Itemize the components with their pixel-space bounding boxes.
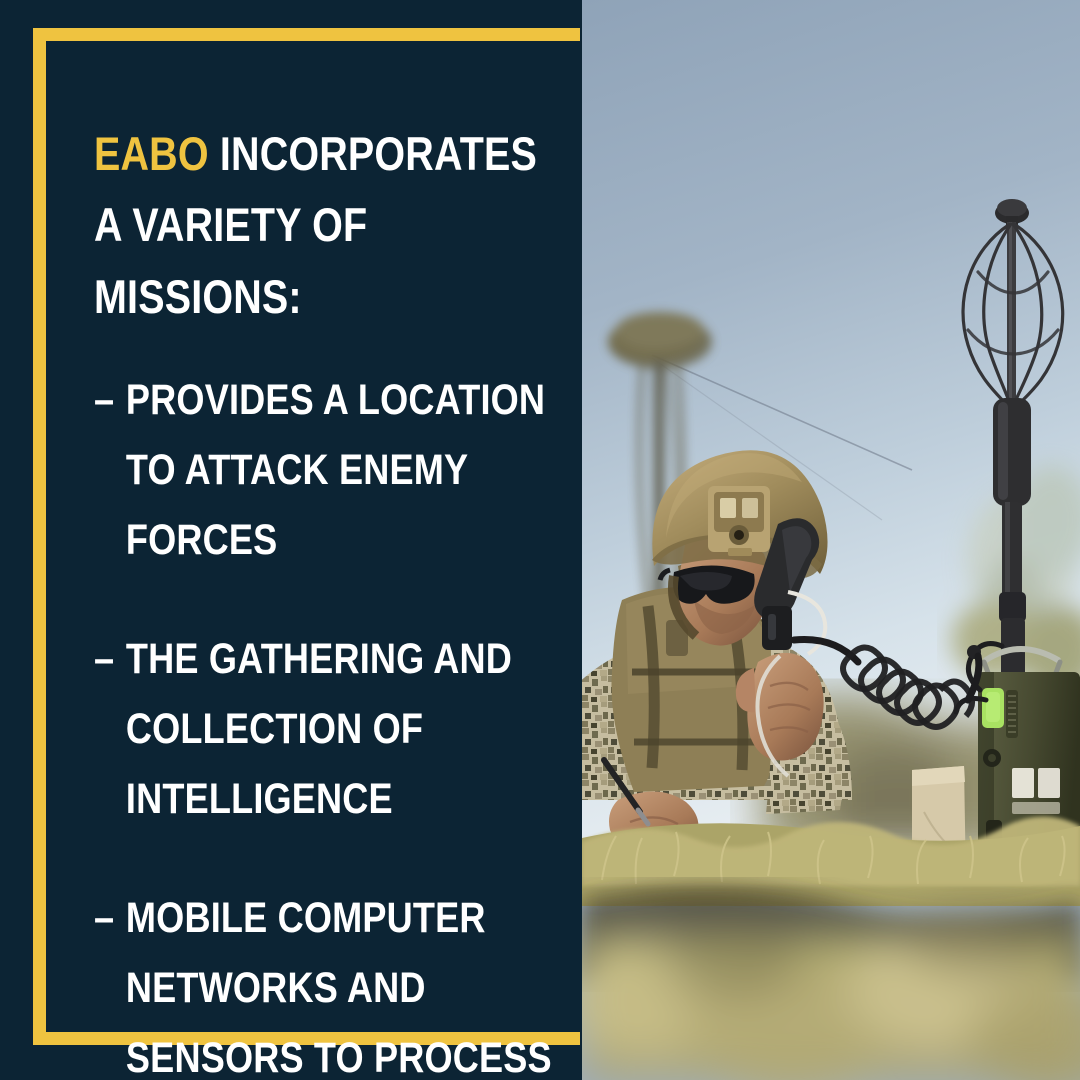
bullet-dash-icon: – <box>94 625 114 695</box>
list-item-label: MOBILE COMPUTER NETWORKS AND SENSORS TO … <box>126 894 552 1080</box>
grass-foreground <box>582 816 1080 1080</box>
list-item-label: PROVIDES A LOCATION TO ATTACK ENEMY FORC… <box>126 376 545 563</box>
list-item: –PROVIDES A LOCATION TO ATTACK ENEMY FOR… <box>94 366 564 575</box>
bullet-dash-icon: – <box>94 884 114 954</box>
green-id-tag <box>982 688 1004 728</box>
list-item: –THE GATHERING AND COLLECTION OF INTELLI… <box>94 625 564 834</box>
list-item-label: THE GATHERING AND COLLECTION OF INTELLIG… <box>126 635 512 822</box>
bullet-dash-icon: – <box>94 366 114 436</box>
headline: EABO INCORPORATES A VARIETY OF MISSIONS: <box>94 118 564 332</box>
marine-radio-photo <box>582 0 1080 1080</box>
graphic-canvas: EABO INCORPORATES A VARIETY OF MISSIONS:… <box>0 0 1080 1080</box>
headline-keyword: EABO <box>94 127 209 180</box>
panel-content: EABO INCORPORATES A VARIETY OF MISSIONS:… <box>94 118 564 1080</box>
nvg-mount <box>708 486 770 556</box>
mission-list: –PROVIDES A LOCATION TO ATTACK ENEMY FOR… <box>94 366 564 1080</box>
gold-border-top-stub <box>520 28 580 41</box>
list-item: –MOBILE COMPUTER NETWORKS AND SENSORS TO… <box>94 884 564 1080</box>
